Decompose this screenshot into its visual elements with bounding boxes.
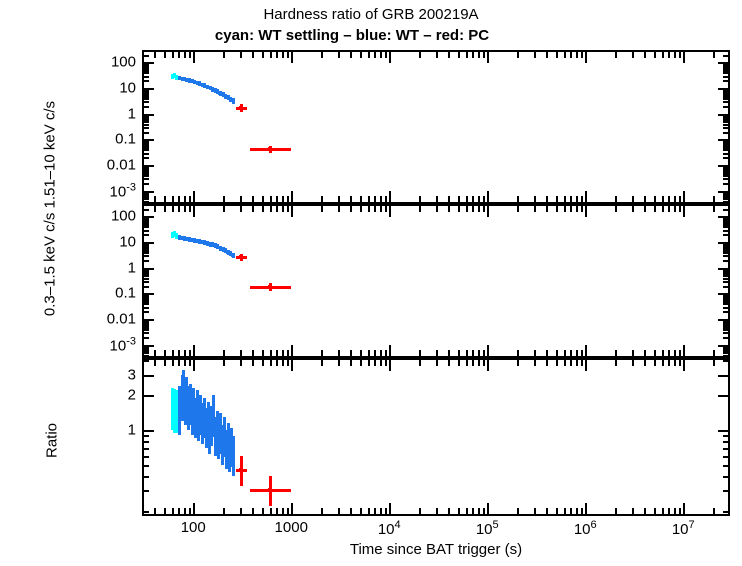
y-tick-left (144, 332, 149, 334)
y-tick-right (723, 219, 728, 221)
x-tick-bottom (556, 196, 558, 202)
x-tick-top (478, 360, 480, 366)
y-tick-right (723, 234, 728, 236)
x-tick-bottom (662, 196, 664, 202)
x-tick-bottom (674, 508, 676, 514)
y-tick-right (723, 183, 728, 185)
x-tick-bottom (576, 350, 578, 356)
figure-title: Hardness ratio of GRB 200219A (0, 6, 742, 23)
y-tick-left (144, 68, 149, 70)
y-tick-left (144, 268, 154, 270)
x-tick-top (338, 52, 340, 58)
x-tick-bottom (585, 345, 587, 356)
y-tick-right (718, 268, 728, 270)
x-tick-top (389, 206, 391, 217)
x-tick-top (184, 206, 186, 212)
x-tick-bottom (458, 508, 460, 514)
y-tick-right (718, 114, 728, 116)
y-tick-right (723, 96, 728, 98)
x-tick-top (270, 360, 272, 366)
x-tick-top (262, 52, 264, 58)
y-tick-right (718, 375, 728, 377)
y-tick-left (144, 352, 149, 354)
y-tick-left (144, 349, 149, 351)
y-tick-left (144, 178, 149, 180)
x-tick-bottom (487, 191, 489, 202)
x-tick-top (184, 52, 186, 58)
y-tick-left (144, 465, 149, 467)
y-tick-right (723, 337, 728, 339)
x-tick-top (615, 206, 617, 212)
x-tick-top (679, 206, 681, 212)
y-tick-label: 10 (36, 79, 136, 96)
x-tick-top (189, 360, 191, 366)
x-tick-bottom (683, 191, 685, 202)
x-tick-top (534, 52, 536, 58)
x-tick-bottom (564, 350, 566, 356)
x-tick-top (458, 52, 460, 58)
x-tick-top (662, 52, 664, 58)
x-tick-top (172, 52, 174, 58)
y-tick-right (723, 360, 728, 362)
y-tick-left (144, 222, 149, 224)
y-tick-left (144, 183, 149, 185)
y-tick-left (144, 281, 149, 283)
hardness-ratio-figure: Hardness ratio of GRB 200219A cyan: WT s… (0, 0, 742, 566)
x-tick-top (276, 360, 278, 366)
x-tick-bottom (478, 196, 480, 202)
x-tick-top (178, 206, 180, 212)
data-point-wt (231, 254, 234, 257)
y-tick-label: 0.01 (36, 310, 136, 327)
figure-subtitle: cyan: WT settling – blue: WT – red: PC (142, 27, 562, 44)
y-tick-right (723, 325, 728, 327)
x-tick-top (287, 206, 289, 212)
x-tick-bottom (360, 350, 362, 356)
y-tick-left (144, 260, 149, 262)
y-tick-left (144, 62, 154, 64)
y-tick-right (723, 147, 728, 149)
x-tick-bottom (632, 350, 634, 356)
y-tick-right (723, 118, 728, 120)
y-tick-right (723, 195, 728, 197)
x-tick-top (374, 206, 376, 212)
x-tick-bottom (632, 508, 634, 514)
y-tick-right (723, 275, 728, 277)
x-tick-bottom (668, 508, 670, 514)
x-tick-bottom (546, 196, 548, 202)
y-tick-right (723, 222, 728, 224)
x-tick-bottom (270, 196, 272, 202)
x-tick-top (193, 52, 195, 63)
x-tick-bottom (321, 350, 323, 356)
x-tick-top (668, 206, 670, 212)
x-tick-top (534, 360, 536, 366)
y-tick-left (144, 132, 149, 134)
y-tick-left (144, 293, 154, 295)
y-tick-right (723, 448, 728, 450)
x-tick-bottom (223, 350, 225, 356)
data-point-pc (239, 468, 243, 472)
y-tick-left (144, 153, 149, 155)
x-tick-bottom (172, 196, 174, 202)
x-tick-bottom (291, 503, 293, 514)
y-tick-right (718, 88, 728, 90)
y-tick-left (144, 114, 154, 116)
x-tick-top (683, 206, 685, 217)
x-tick-bottom (615, 196, 617, 202)
x-tick-bottom (374, 508, 376, 514)
x-tick-top (585, 206, 587, 217)
y-tick-left (144, 476, 149, 478)
x-tick-bottom (662, 350, 664, 356)
y-tick-label: 2 (36, 387, 136, 404)
x-tick-top (632, 360, 634, 366)
x-tick-bottom (674, 196, 676, 202)
x-tick-top (448, 360, 450, 366)
x-tick-top (193, 360, 195, 371)
x-tick-bottom (458, 196, 460, 202)
x-tick-bottom (472, 508, 474, 514)
y-tick-left (144, 337, 149, 339)
x-tick-bottom (164, 508, 166, 514)
x-tick-top (436, 52, 438, 58)
x-tick-bottom (350, 196, 352, 202)
x-tick-bottom (483, 350, 485, 356)
x-tick-bottom (556, 508, 558, 514)
x-tick-bottom (291, 345, 293, 356)
x-tick-bottom (368, 508, 370, 514)
x-tick-bottom (262, 508, 264, 514)
y-tick-left (144, 250, 149, 252)
y-tick-left (144, 319, 154, 321)
y-tick-right (723, 198, 728, 200)
x-tick-top (350, 360, 352, 366)
x-tick-top (564, 360, 566, 366)
x-tick-top (380, 206, 382, 212)
x-tick-bottom (581, 508, 583, 514)
y-tick-left (144, 255, 149, 257)
y-tick-right (723, 157, 728, 159)
data-point-pc (268, 147, 272, 151)
x-tick-bottom (487, 503, 489, 514)
x-tick-bottom (252, 508, 254, 514)
x-tick-bottom (419, 508, 421, 514)
y-tick-left (144, 127, 149, 129)
y-tick-right (723, 441, 728, 443)
y-tick-right (723, 106, 728, 108)
x-tick-bottom (662, 508, 664, 514)
x-tick-bottom (240, 350, 242, 356)
x-tick-top (564, 52, 566, 58)
x-tick-bottom (472, 196, 474, 202)
y-tick-left (144, 106, 149, 108)
x-tick-top (240, 206, 242, 212)
x-tick-top (576, 52, 578, 58)
x-tick-top (252, 206, 254, 212)
x-tick-top (374, 360, 376, 366)
x-tick-top (466, 52, 468, 58)
x-tick-top (262, 206, 264, 212)
x-tick-bottom (448, 508, 450, 514)
x-tick-top (154, 360, 156, 366)
x-tick-top (338, 206, 340, 212)
y-tick-right (723, 332, 728, 334)
x-tick-top (193, 206, 195, 217)
x-tick-top (679, 52, 681, 58)
x-tick-bottom (189, 508, 191, 514)
x-tick-bottom (478, 508, 480, 514)
y-tick-label: 10 (36, 233, 136, 250)
y-tick-left (144, 198, 149, 200)
x-tick-top (674, 206, 676, 212)
x-tick-top (321, 52, 323, 58)
x-tick-label: 106 (574, 519, 597, 538)
x-tick-bottom (674, 350, 676, 356)
x-tick-bottom (154, 508, 156, 514)
data-point-pc (239, 106, 243, 110)
x-tick-bottom (262, 196, 264, 202)
x-tick-bottom (654, 350, 656, 356)
x-tick-bottom (276, 196, 278, 202)
y-tick-right (723, 272, 728, 274)
x-tick-bottom (644, 196, 646, 202)
y-tick-right (723, 65, 728, 67)
data-point-pc (268, 488, 272, 492)
y-tick-left (144, 191, 154, 193)
x-tick-bottom (193, 345, 195, 356)
x-tick-bottom (564, 196, 566, 202)
x-tick-bottom (466, 508, 468, 514)
y-tick-right (723, 355, 728, 357)
x-tick-top (683, 52, 685, 63)
y-tick-right (723, 296, 728, 298)
y-tick-left (144, 278, 149, 280)
x-tick-top (350, 206, 352, 212)
y-tick-right (723, 278, 728, 280)
x-tick-top (517, 52, 519, 58)
y-tick-right (718, 319, 728, 321)
x-tick-top (472, 360, 474, 366)
y-tick-right (723, 76, 728, 78)
x-tick-top (483, 52, 485, 58)
y-tick-right (718, 395, 728, 397)
y-tick-right (723, 121, 728, 123)
x-tick-top (632, 206, 634, 212)
x-tick-top (534, 206, 536, 212)
y-tick-left (144, 303, 149, 305)
x-tick-top (478, 52, 480, 58)
y-tick-left (144, 121, 149, 123)
y-tick-left (144, 118, 149, 120)
x-tick-bottom (466, 196, 468, 202)
y-tick-right (723, 178, 728, 180)
x-tick-bottom (350, 350, 352, 356)
x-tick-top (276, 52, 278, 58)
x-tick-top (240, 360, 242, 366)
y-tick-label: 0.01 (36, 156, 136, 173)
x-tick-bottom (240, 508, 242, 514)
x-tick-top (632, 52, 634, 58)
x-tick-top (338, 360, 340, 366)
x-tick-top (291, 52, 293, 63)
y-tick-right (723, 301, 728, 303)
x-tick-bottom (483, 508, 485, 514)
x-tick-top (287, 360, 289, 366)
x-tick-top (581, 360, 583, 366)
y-tick-left (144, 201, 149, 203)
x-tick-top (585, 360, 587, 371)
data-point-pc (268, 285, 272, 289)
x-tick-top (546, 360, 548, 366)
y-tick-right (723, 329, 728, 331)
x-tick-bottom (368, 196, 370, 202)
x-tick-top (240, 52, 242, 58)
x-tick-top (487, 206, 489, 217)
x-tick-bottom (644, 350, 646, 356)
x-tick-bottom (472, 350, 474, 356)
y-tick-left (144, 142, 149, 144)
x-tick-top (644, 360, 646, 366)
x-tick-bottom (287, 196, 289, 202)
x-tick-bottom (483, 196, 485, 202)
y-tick-left (144, 165, 154, 167)
y-tick-right (723, 127, 728, 129)
y-tick-left (144, 325, 149, 327)
y-tick-right (723, 456, 728, 458)
x-tick-top (570, 52, 572, 58)
y-tick-left (144, 242, 154, 244)
x-tick-top (487, 52, 489, 63)
x-tick-bottom (154, 196, 156, 202)
x-tick-bottom (581, 196, 583, 202)
x-tick-top (713, 52, 715, 58)
x-tick-top (154, 206, 156, 212)
x-tick-bottom (546, 508, 548, 514)
x-tick-bottom (223, 196, 225, 202)
y-tick-left (144, 360, 149, 362)
y-tick-left (144, 149, 149, 151)
x-tick-top (458, 206, 460, 212)
y-tick-right (723, 327, 728, 329)
x-tick-top (448, 206, 450, 212)
x-tick-bottom (184, 508, 186, 514)
x-tick-bottom (644, 508, 646, 514)
y-tick-right (723, 68, 728, 70)
x-tick-bottom (262, 350, 264, 356)
x-tick-top (368, 360, 370, 366)
x-tick-bottom (713, 196, 715, 202)
x-tick-top (380, 360, 382, 366)
x-tick-label: 107 (672, 519, 695, 538)
x-tick-bottom (282, 350, 284, 356)
x-tick-top (546, 206, 548, 212)
x-tick-bottom (172, 350, 174, 356)
x-tick-bottom (556, 350, 558, 356)
x-tick-top (368, 52, 370, 58)
y-tick-label: 10-3 (36, 181, 136, 200)
x-tick-top (189, 52, 191, 58)
y-tick-right (718, 430, 728, 432)
x-tick-top (556, 206, 558, 212)
x-tick-top (585, 52, 587, 63)
x-tick-top (164, 360, 166, 366)
y-tick-right (723, 70, 728, 72)
x-tick-top (570, 360, 572, 366)
y-tick-left (144, 430, 154, 432)
x-tick-top (556, 52, 558, 58)
x-tick-top (458, 360, 460, 366)
y-tick-left (144, 224, 149, 226)
x-tick-bottom (517, 508, 519, 514)
x-tick-top (487, 360, 489, 371)
y-tick-left (144, 124, 149, 126)
x-tick-bottom (193, 191, 195, 202)
y-tick-label: 0.1 (36, 131, 136, 148)
y-tick-right (723, 145, 728, 147)
y-tick-right (723, 173, 728, 175)
x-tick-bottom (517, 196, 519, 202)
x-tick-bottom (615, 350, 617, 356)
y-tick-right (723, 142, 728, 144)
x-tick-bottom (585, 191, 587, 202)
x-tick-bottom (534, 350, 536, 356)
x-tick-bottom (291, 191, 293, 202)
x-tick-top (683, 360, 685, 371)
x-tick-bottom (668, 196, 670, 202)
y-tick-label: 10-3 (36, 335, 136, 354)
x-tick-top (546, 52, 548, 58)
x-tick-top (350, 52, 352, 58)
y-tick-right (723, 80, 728, 82)
y-tick-left (144, 355, 149, 357)
y-tick-right (718, 345, 728, 347)
y-tick-left (144, 248, 149, 250)
y-tick-right (723, 303, 728, 305)
x-tick-top (223, 52, 225, 58)
x-tick-bottom (338, 508, 340, 514)
x-tick-bottom (240, 196, 242, 202)
y-tick-left (144, 327, 149, 329)
x-tick-bottom (679, 508, 681, 514)
x-tick-top (581, 52, 583, 58)
y-tick-right (723, 248, 728, 250)
y-tick-left (144, 96, 149, 98)
x-tick-bottom (189, 350, 191, 356)
x-tick-bottom (252, 350, 254, 356)
x-tick-top (385, 52, 387, 58)
y-tick-left (144, 511, 149, 513)
x-tick-bottom (287, 350, 289, 356)
x-tick-bottom (517, 350, 519, 356)
y-tick-right (723, 72, 728, 74)
x-tick-bottom (287, 508, 289, 514)
x-tick-bottom (164, 350, 166, 356)
x-tick-top (178, 360, 180, 366)
y-tick-left (144, 209, 149, 211)
y-tick-left (144, 296, 149, 298)
x-tick-bottom (184, 196, 186, 202)
y-tick-left (144, 275, 149, 277)
y-tick-left (144, 94, 149, 96)
y-tick-left (144, 301, 149, 303)
x-tick-bottom (360, 508, 362, 514)
data-point-wt (211, 412, 214, 415)
x-tick-top (189, 206, 191, 212)
x-tick-top (223, 360, 225, 366)
x-tick-bottom (360, 196, 362, 202)
y-tick-left (144, 88, 154, 90)
